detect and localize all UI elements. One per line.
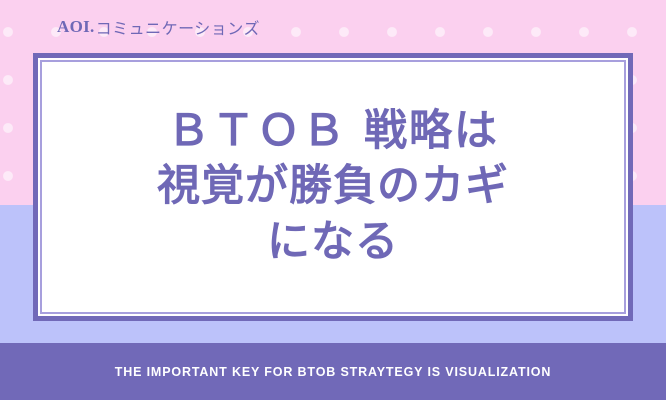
headline-card-inner: ＢＴＯＢ 戦略は 視覚が勝負のカギ になる [38, 58, 628, 316]
masthead-brand: AOI. [57, 17, 95, 37]
footer-tagline: THE IMPORTANT KEY FOR BTOB STRAYTEGY IS … [115, 365, 552, 379]
headline-line-1: ＢＴＯＢ 戦略は [167, 104, 499, 159]
masthead: AOI. コミュニケーションズ [57, 15, 260, 39]
headline-line-3: になる [267, 215, 399, 270]
headline-line-2: 視覚が勝負のカギ [157, 159, 509, 214]
poster-canvas: AOI. コミュニケーションズ ＢＴＯＢ 戦略は 視覚が勝負のカギ になる TH… [0, 0, 666, 400]
footer-strip: THE IMPORTANT KEY FOR BTOB STRAYTEGY IS … [0, 343, 666, 400]
masthead-company-name: コミュニケーションズ [96, 15, 260, 39]
headline-card: ＢＴＯＢ 戦略は 視覚が勝負のカギ になる [33, 53, 633, 321]
